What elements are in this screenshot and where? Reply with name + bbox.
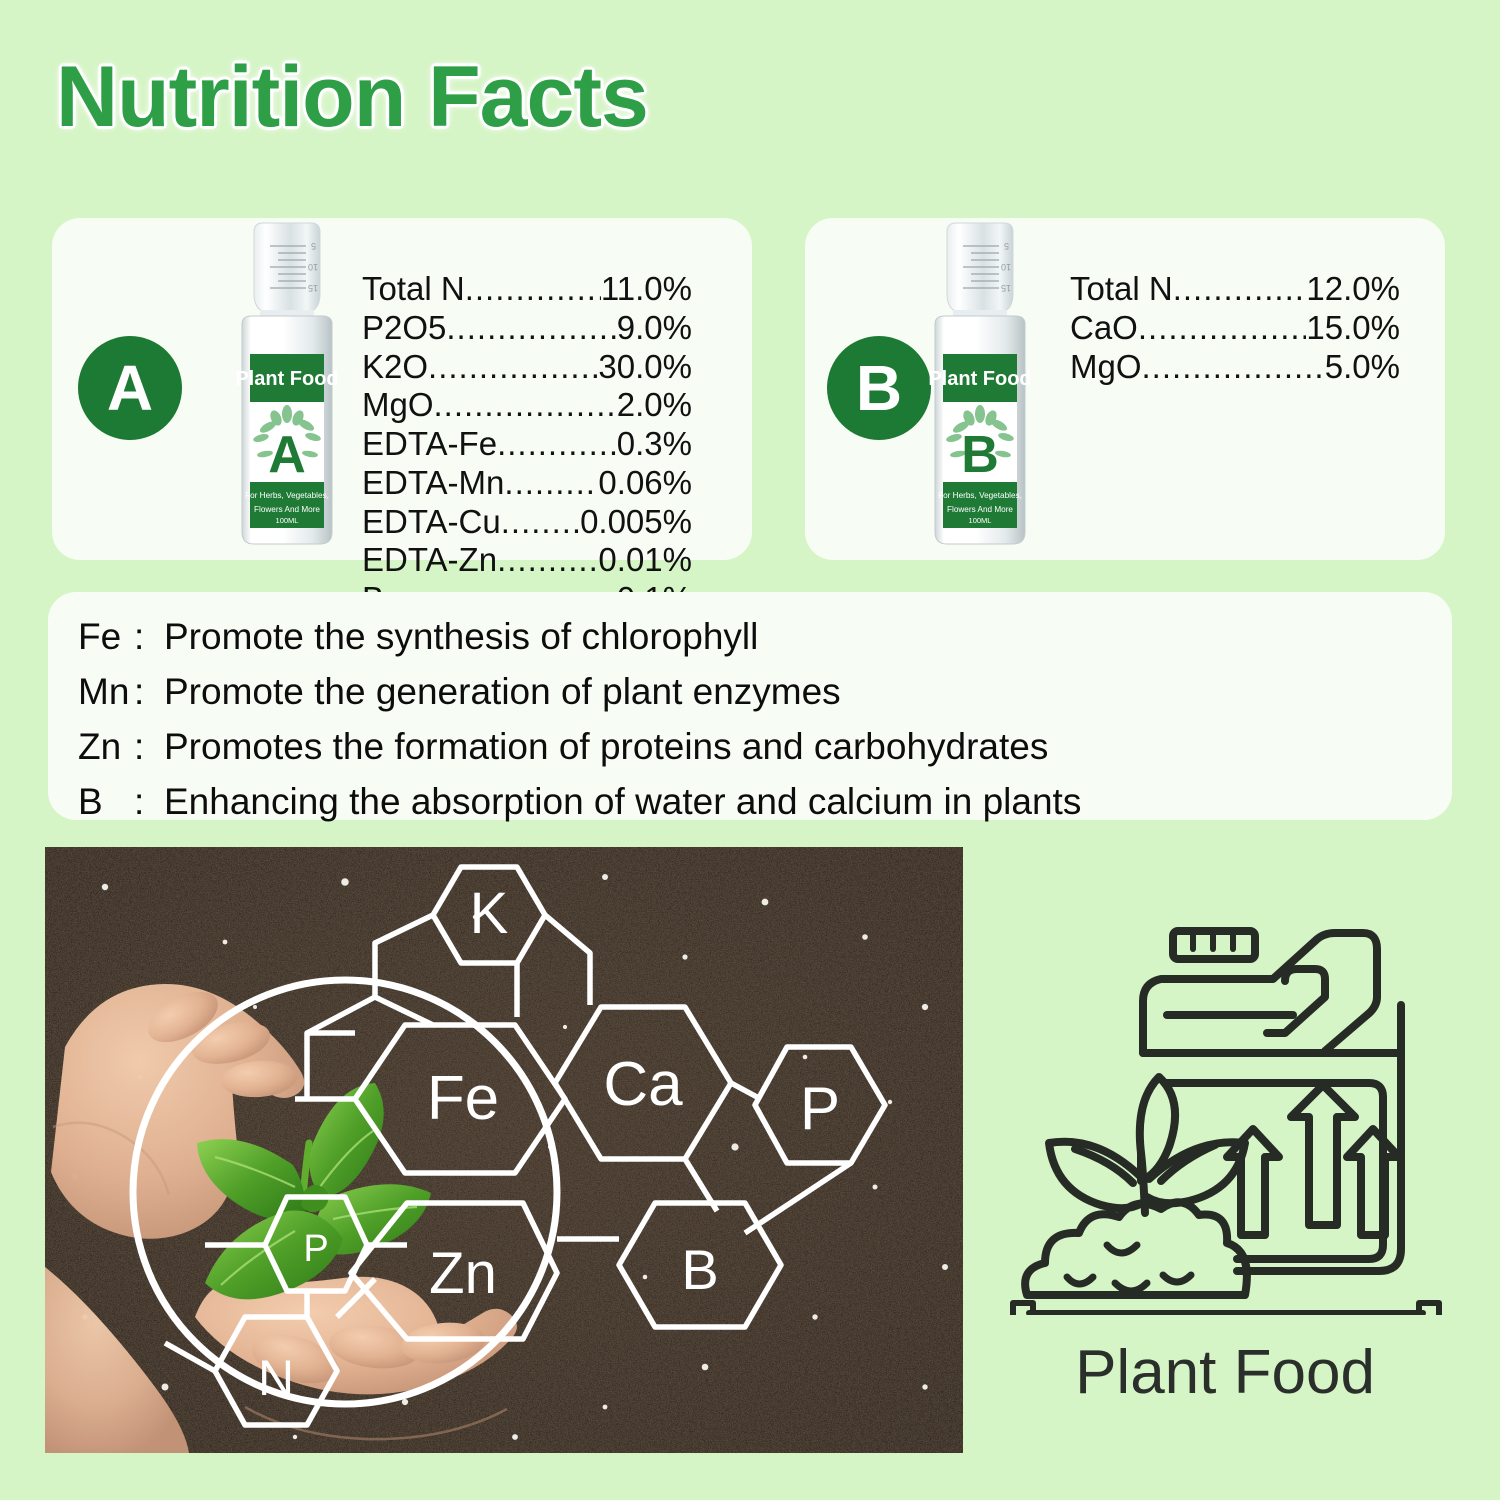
svg-text:10: 10 [1001, 262, 1011, 272]
svg-text:For Herbs, Vegetables,: For Herbs, Vegetables, [245, 491, 329, 500]
ingredient-value: 30.0% [598, 348, 692, 387]
ingredient-name: Total N [362, 270, 465, 309]
svg-text:Flowers And More: Flowers And More [254, 505, 320, 514]
product-a-badge: A [78, 336, 182, 440]
leader-dots: ........................................… [1138, 309, 1307, 348]
ingredient-row: MgO ....................................… [1070, 348, 1400, 387]
leader-dots: ........................................… [465, 270, 601, 309]
leader-dots: ........................................… [1142, 348, 1325, 387]
benefit-colon: : [134, 616, 164, 658]
svg-text:A: A [268, 426, 306, 484]
ingredient-row: CaO ....................................… [1070, 309, 1400, 348]
benefit-text: Enhancing the absorption of water and ca… [164, 781, 1432, 823]
benefit-row: Fe : Promote the synthesis of chlorophyl… [78, 616, 1432, 658]
svg-text:5: 5 [311, 241, 316, 251]
hex-label-p-right: P [800, 1075, 840, 1142]
benefit-key: Zn [78, 726, 134, 768]
ingredient-row: EDTA-Fe ................................… [362, 425, 692, 464]
product-a-ingredient-list: Total N ................................… [362, 270, 692, 619]
benefit-text: Promote the generation of plant enzymes [164, 671, 1432, 713]
product-b-badge-letter: B [856, 356, 902, 420]
benefit-key: Mn [78, 671, 134, 713]
benefit-colon: : [134, 726, 164, 768]
leader-dots: ........................................… [504, 464, 598, 503]
benefit-row: Zn : Promotes the formation of proteins … [78, 726, 1432, 768]
ingredient-row: EDTA-Zn ................................… [362, 541, 692, 580]
ingredient-name: EDTA-Fe [362, 425, 497, 464]
hex-label-ca: Ca [603, 1050, 683, 1119]
plant-food-illustration [1005, 895, 1445, 1315]
svg-text:Plant Food: Plant Food [928, 368, 1031, 390]
product-b-card: B 5 10 15 Plant Food [805, 218, 1445, 560]
benefit-key: B [78, 781, 134, 823]
svg-text:Flowers And More: Flowers And More [947, 505, 1013, 514]
hex-label-k: K [470, 881, 509, 946]
ingredient-name: EDTA-Cu [362, 503, 501, 542]
benefit-key: Fe [78, 616, 134, 658]
ingredient-row: EDTA-Cu ................................… [362, 503, 692, 542]
illustration-caption: Plant Food [1005, 1337, 1445, 1408]
leader-dots: ........................................… [1173, 270, 1307, 309]
ingredient-row: Total N ................................… [362, 270, 692, 309]
ingredient-value: 0.01% [598, 541, 692, 580]
svg-text:100ML: 100ML [276, 516, 299, 525]
svg-text:10: 10 [308, 262, 318, 272]
page-title: Nutrition Facts [56, 48, 648, 147]
benefit-text: Promote the synthesis of chlorophyll [164, 616, 1432, 658]
hex-label-p-left: P [303, 1228, 328, 1270]
ingredient-value: 0.3% [617, 425, 692, 464]
ingredient-value: 15.0% [1306, 309, 1400, 348]
ingredient-name: MgO [1070, 348, 1142, 387]
ingredient-name: EDTA-Zn [362, 541, 497, 580]
leader-dots: ........................................… [434, 386, 617, 425]
leader-dots: ........................................… [446, 309, 616, 348]
bottle-b: 5 10 15 Plant Food B For Herb [913, 222, 1047, 552]
leader-dots: ........................................… [497, 541, 598, 580]
svg-text:B: B [961, 426, 999, 484]
ingredient-name: P2O5 [362, 309, 446, 348]
ingredient-row: MgO ....................................… [362, 386, 692, 425]
benefit-row: Mn : Promote the generation of plant enz… [78, 671, 1432, 713]
svg-text:For Herbs, Vegetables,: For Herbs, Vegetables, [938, 491, 1022, 500]
leader-dots: ........................................… [428, 348, 598, 387]
ingredient-name: MgO [362, 386, 434, 425]
benefit-row: B : Enhancing the absorption of water an… [78, 781, 1432, 823]
ingredient-name: K2O [362, 348, 428, 387]
ingredient-value: 5.0% [1325, 348, 1400, 387]
ingredient-value: 9.0% [617, 309, 692, 348]
seedling-soil-photo: K Fe Ca P Zn B P N [45, 847, 963, 1453]
hex-label-zn: Zn [429, 1241, 497, 1306]
ingredient-value: 11.0% [601, 270, 692, 309]
molecule-hex-overlay: K Fe Ca P Zn B P N [45, 847, 963, 1453]
benefit-text: Promotes the formation of proteins and c… [164, 726, 1432, 768]
product-a-card: A [52, 218, 752, 560]
bottle-a: 5 10 15 Plant Food [220, 222, 354, 552]
svg-text:5: 5 [1004, 241, 1009, 251]
ingredient-value: 0.005% [580, 503, 692, 542]
hex-label-n: N [258, 1350, 294, 1406]
benefit-colon: : [134, 781, 164, 823]
leader-dots: ........................................… [501, 503, 580, 542]
ingredient-row: K2O ....................................… [362, 348, 692, 387]
svg-text:Plant Food: Plant Food [235, 368, 338, 390]
ingredient-name: EDTA-Mn [362, 464, 504, 503]
benefit-colon: : [134, 671, 164, 713]
ingredient-value: 0.06% [598, 464, 692, 503]
ingredient-row: Total N ................................… [1070, 270, 1400, 309]
benefits-card: Fe : Promote the synthesis of chlorophyl… [48, 592, 1452, 820]
svg-text:15: 15 [308, 283, 318, 293]
ingredient-value: 2.0% [617, 386, 692, 425]
product-b-ingredient-list: Total N ................................… [1070, 270, 1400, 386]
leader-dots: ........................................… [497, 425, 617, 464]
ingredient-name: Total N [1070, 270, 1173, 309]
hex-label-fe: Fe [427, 1064, 499, 1133]
ingredient-value: 12.0% [1306, 270, 1400, 309]
svg-text:15: 15 [1001, 283, 1011, 293]
ingredient-name: CaO [1070, 309, 1138, 348]
product-a-badge-letter: A [107, 356, 153, 420]
hex-label-b: B [681, 1238, 718, 1301]
ingredient-row: P2O5 ...................................… [362, 309, 692, 348]
svg-text:100ML: 100ML [969, 516, 992, 525]
ingredient-row: EDTA-Mn ................................… [362, 464, 692, 503]
